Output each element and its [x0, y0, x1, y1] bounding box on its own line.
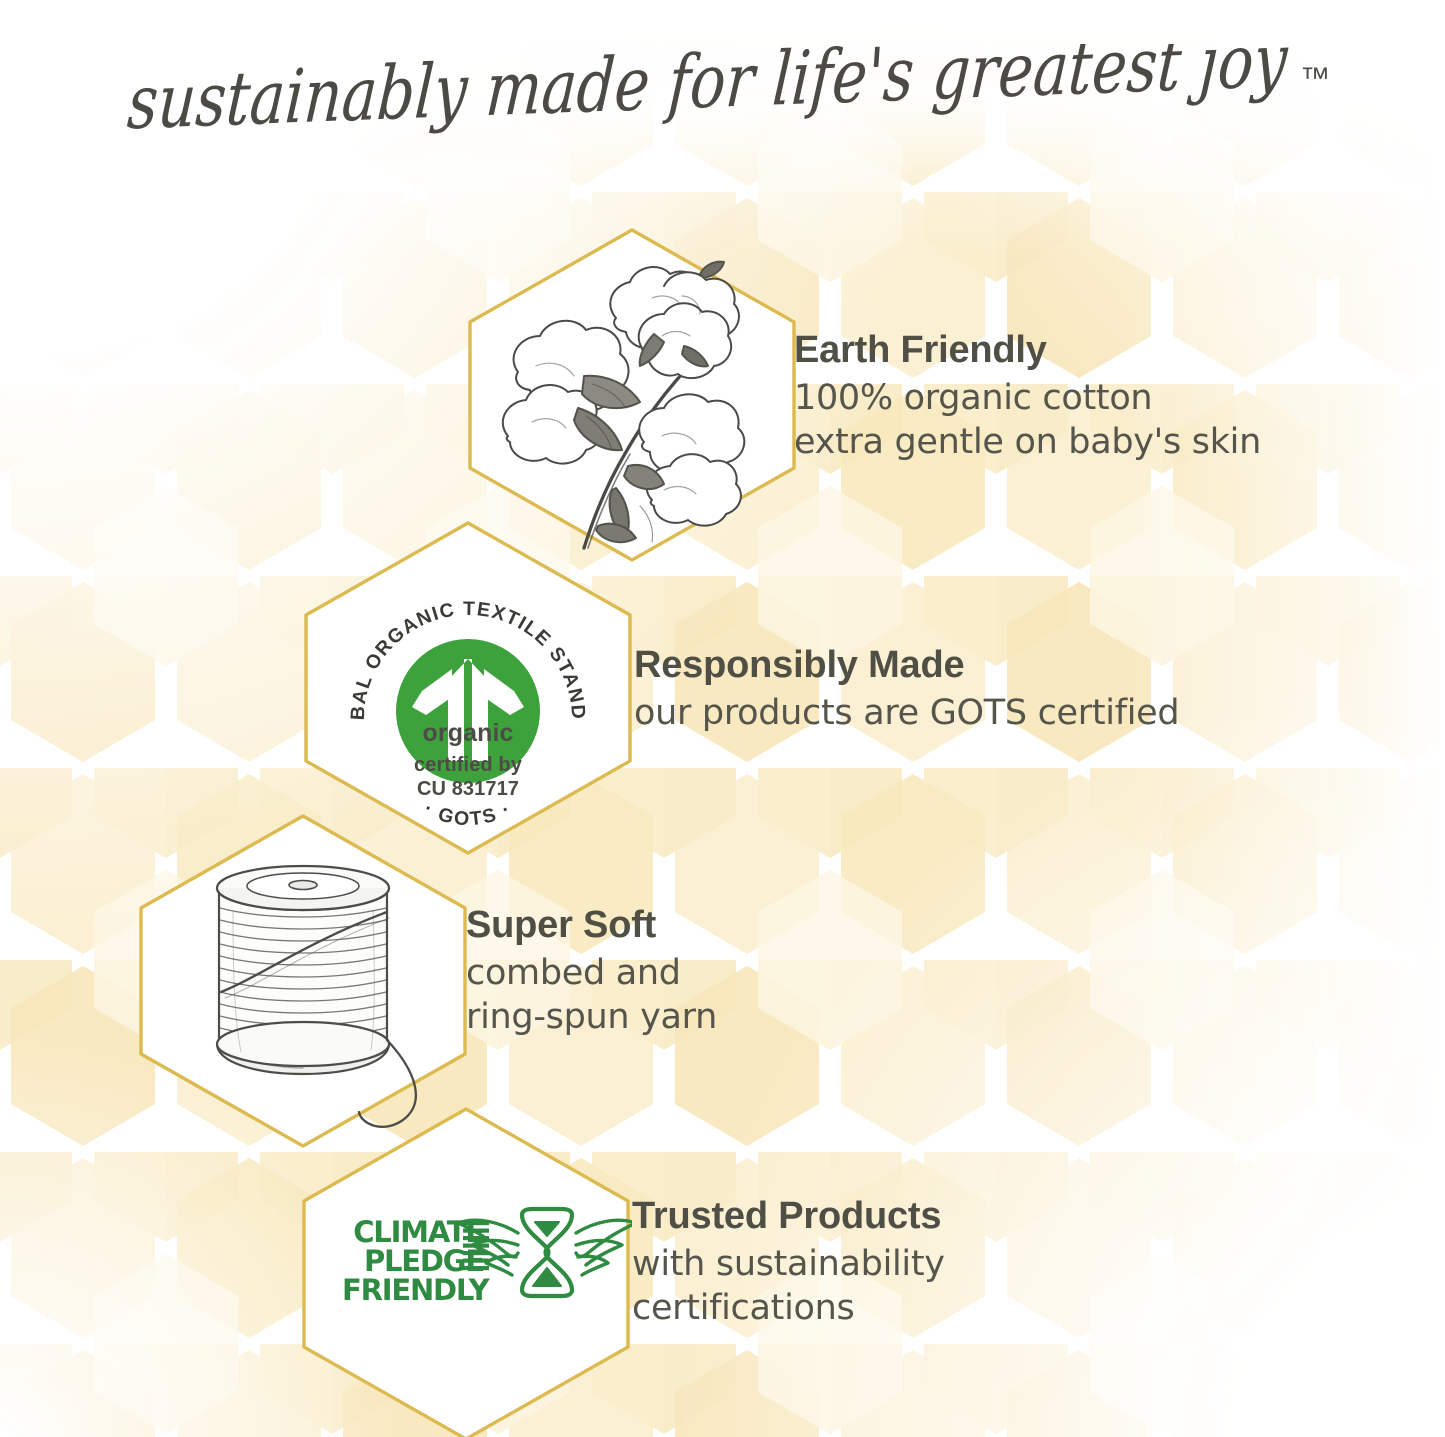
- promo-infographic: sustainably made for life's greatest joy…: [0, 0, 1445, 1437]
- feature-trusted-products: CLIMATE PLEDGE FRIENDLY: [0, 0, 1445, 1437]
- climate-pledge-friendly-icon: CLIMATE PLEDGE FRIENDLY: [300, 1105, 632, 1437]
- feature-text-trusted-products: Trusted Products with sustainability cer…: [632, 1196, 945, 1330]
- feature-title: Trusted Products: [632, 1196, 945, 1236]
- feature-subtitle-line-2: certifications: [632, 1286, 945, 1330]
- feature-subtitle-line-1: with sustainability: [632, 1242, 945, 1286]
- hexagon-cell-trusted-products: CLIMATE PLEDGE FRIENDLY: [300, 1105, 632, 1437]
